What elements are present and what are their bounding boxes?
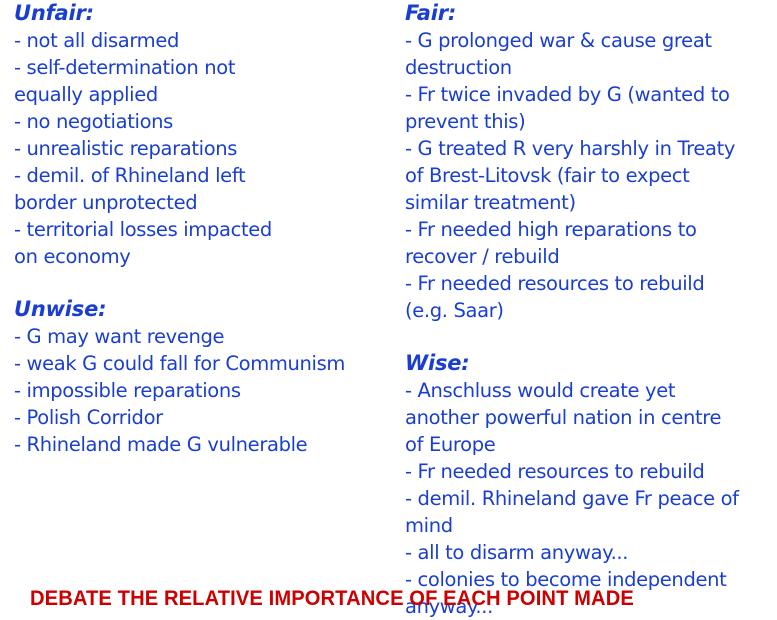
list-item: of Brest-Litovsk (fair to expect	[405, 162, 777, 189]
list-item: - demil. Rhineland gave Fr peace of	[405, 485, 777, 512]
bullet-list-unwise: - G may want revenge - weak G could fall…	[14, 323, 404, 458]
list-item: destruction	[405, 54, 777, 81]
list-item: recover / rebuild	[405, 243, 777, 270]
list-item: - unrealistic reparations	[14, 135, 404, 162]
list-item: - G treated R very harshly in Treaty	[405, 135, 777, 162]
bullet-list-wise: - Anschluss would create yet another pow…	[405, 377, 777, 620]
list-item: - demil. of Rhineland left	[14, 162, 404, 189]
list-item: - Polish Corridor	[14, 404, 404, 431]
bullet-list-fair: - G prolonged war & cause great destruct…	[405, 27, 777, 324]
list-item: - self-determination not	[14, 54, 404, 81]
section-heading-wise: Wise:	[405, 350, 777, 377]
list-item: equally applied	[14, 81, 404, 108]
list-item: - territorial losses impacted	[14, 216, 404, 243]
section-unwise: Unwise: - G may want revenge - weak G co…	[14, 296, 404, 458]
list-item: - not all disarmed	[14, 27, 404, 54]
list-item: similar treatment)	[405, 189, 777, 216]
section-heading-unfair: Unfair:	[14, 0, 404, 27]
bullet-list-unfair: - not all disarmed - self-determination …	[14, 27, 404, 270]
list-item: another powerful nation in centre	[405, 404, 777, 431]
section-heading-fair: Fair:	[405, 0, 777, 27]
left-column: Unfair: - not all disarmed - self-determ…	[14, 0, 404, 458]
list-item: border unprotected	[14, 189, 404, 216]
list-item: - Fr needed resources to rebuild	[405, 270, 777, 297]
list-item: - weak G could fall for Communism	[14, 350, 404, 377]
list-item: - G prolonged war & cause great	[405, 27, 777, 54]
section-heading-unwise: Unwise:	[14, 296, 404, 323]
section-unfair: Unfair: - not all disarmed - self-determ…	[14, 0, 404, 270]
list-item: of Europe	[405, 431, 777, 458]
slide-canvas: Unfair: - not all disarmed - self-determ…	[0, 0, 777, 617]
list-item: - Anschluss would create yet	[405, 377, 777, 404]
list-item: on economy	[14, 243, 404, 270]
list-item: - Rhineland made G vulnerable	[14, 431, 404, 458]
list-item: prevent this)	[405, 108, 777, 135]
list-item: - impossible reparations	[14, 377, 404, 404]
list-item: - Fr needed resources to rebuild	[405, 458, 777, 485]
section-fair: Fair: - G prolonged war & cause great de…	[405, 0, 777, 324]
section-wise: Wise: - Anschluss would create yet anoth…	[405, 350, 777, 620]
right-column: Fair: - G prolonged war & cause great de…	[405, 0, 777, 620]
list-item: - no negotiations	[14, 108, 404, 135]
list-item: - G may want revenge	[14, 323, 404, 350]
list-item: - Fr twice invaded by G (wanted to	[405, 81, 777, 108]
footer-instruction-text: DEBATE THE RELATIVE IMPORTANCE OF EACH P…	[30, 586, 721, 612]
footer-banner: DEBATE THE RELATIVE IMPORTANCE OF EACH P…	[30, 586, 750, 612]
content-columns: Unfair: - not all disarmed - self-determ…	[0, 0, 777, 580]
list-item: (e.g. Saar)	[405, 297, 777, 324]
list-item: mind	[405, 512, 777, 539]
list-item: - Fr needed high reparations to	[405, 216, 777, 243]
list-item: - all to disarm anyway...	[405, 539, 777, 566]
